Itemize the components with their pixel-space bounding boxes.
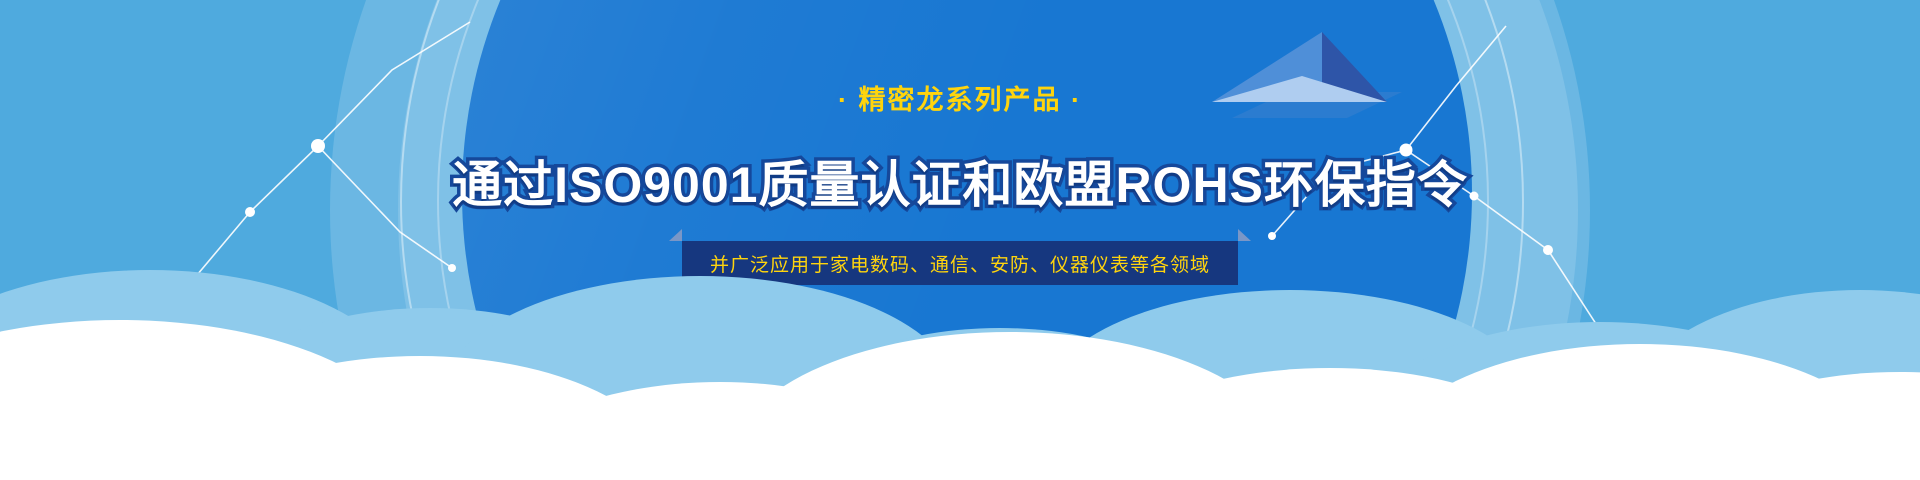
banner-headline: 通过ISO9001质量认证和欧盟ROHS环保指令	[0, 145, 1920, 217]
ribbon-fold-left-icon	[669, 229, 682, 241]
cloud-layers-icon	[0, 250, 1920, 480]
banner-eyebrow-text: · 精密龙系列产品 ·	[0, 78, 1920, 117]
ribbon-fold-right-icon	[1238, 229, 1251, 241]
promo-banner: · 精密龙系列产品 · 通过ISO9001质量认证和欧盟ROHS环保指令 并广泛…	[0, 0, 1920, 480]
